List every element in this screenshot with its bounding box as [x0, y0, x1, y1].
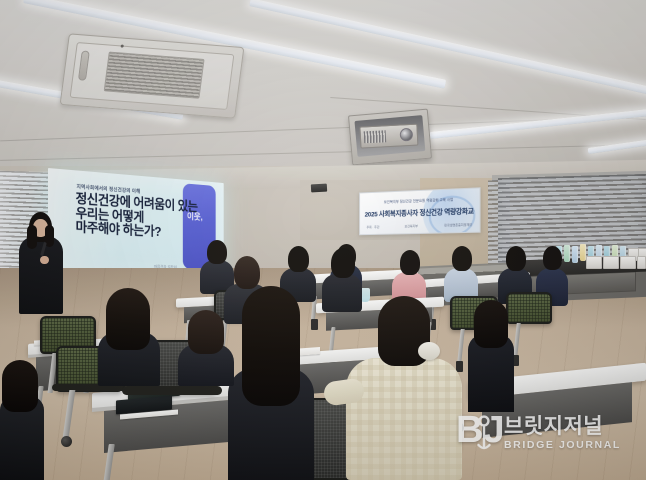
projector-vent: [364, 130, 387, 143]
attendee-pink-top: [392, 250, 426, 302]
presenter: [18, 212, 64, 314]
attendee-cream-cardigan: [346, 296, 470, 480]
wall-speaker-icon: [311, 184, 327, 193]
attendee-hair: [2, 360, 38, 412]
attendee-hair: [452, 246, 472, 271]
attendee-hair: [400, 250, 420, 275]
watermark-korean: 브릿지저널: [504, 416, 621, 437]
supply-box: [620, 256, 636, 269]
attendee-right-edge: [468, 300, 514, 410]
banner-logo-3: 한국생명존중희망재단: [444, 223, 472, 228]
logo-person-glyph: [476, 415, 492, 451]
attendee-center-long-hair: [228, 286, 314, 480]
attendee-hair: [543, 246, 562, 270]
attendee-hair: [106, 288, 150, 350]
chair-caster: [61, 436, 72, 447]
attendee-hair: [188, 310, 224, 354]
presenter-body: [19, 236, 63, 314]
attendee-long-dark-hair: [96, 288, 160, 384]
supply-box: [603, 256, 619, 269]
presenter-hair-side: [27, 225, 37, 249]
attendee-foreground-left: [0, 360, 44, 480]
photograph-lecture-room: 지역사회에서의 정신건강의 이해 정신건강에 어려움이 있는 우리는 어떻게 마…: [0, 0, 646, 480]
water-bottle: [572, 246, 578, 263]
banner-logo-1: 주최 · 주관: [367, 225, 380, 229]
attendee-hair: [288, 246, 309, 272]
watermark: BJ 브릿지저널 BRIDGE JOURNAL: [456, 404, 636, 462]
attendee-mid-left: [178, 310, 234, 382]
attendee-hair: [234, 256, 260, 289]
supply-box: [637, 256, 646, 269]
ac-grille: [104, 52, 205, 99]
attendee-hair: [331, 248, 355, 278]
event-banner: 보건복지부 정신건강 전문요원 역량강화 교육 사업 2025 사회복지종사자 …: [359, 187, 480, 235]
supply-box: [586, 256, 602, 269]
box-stack-row: [586, 256, 646, 270]
projector-body: [359, 124, 418, 149]
slide-panel-word: 이웃,: [187, 210, 203, 223]
chair-arm: [122, 386, 222, 395]
projection-screen: 지역사회에서의 정신건강의 이해 정신건강에 어려움이 있는 우리는 어떻게 마…: [48, 168, 224, 281]
attendee-hair: [242, 286, 300, 406]
banner-logo-2: 보건복지부: [405, 224, 418, 228]
watermark-english: BRIDGE JOURNAL: [504, 440, 621, 451]
projector-lens-icon: [400, 128, 414, 142]
attendee-hair: [474, 300, 508, 348]
attendee-body: [346, 358, 462, 480]
watermark-text: 브릿지저널 BRIDGE JOURNAL: [504, 416, 621, 451]
ceiling-air-conditioner: [60, 33, 245, 118]
projector-housing: [348, 109, 432, 166]
presenter-hand: [40, 256, 49, 264]
attendee-hair: [506, 246, 526, 271]
hair-scrunchie: [418, 342, 440, 360]
attendee-light-blue-top: [444, 246, 478, 300]
bridge-journal-logo-icon: BJ: [456, 411, 498, 455]
